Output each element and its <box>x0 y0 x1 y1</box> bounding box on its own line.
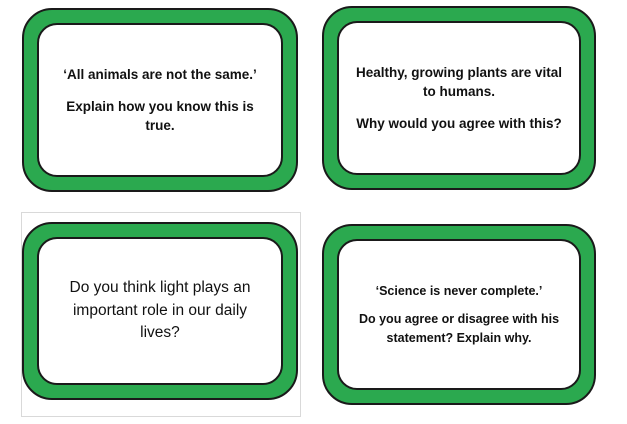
question-card-bottom-left-body: Do you think light plays an important ro… <box>37 237 283 385</box>
question-card-top-right-line-1: Healthy, growing plants are vital to hum… <box>355 63 563 101</box>
question-card-bottom-right-line-1: ‘Science is never complete.’ <box>349 282 569 300</box>
question-card-top-right[interactable]: Healthy, growing plants are vital to hum… <box>322 6 596 190</box>
question-card-bottom-right-line-2: Do you agree or disagree with his statem… <box>349 310 569 346</box>
question-card-top-left-line-2: Explain how you know this is true. <box>53 97 267 135</box>
question-card-grid: ‘All animals are not the same.’ Explain … <box>0 0 627 424</box>
question-card-bottom-right[interactable]: ‘Science is never complete.’ Do you agre… <box>322 224 596 405</box>
question-card-top-left-line-1: ‘All animals are not the same.’ <box>53 65 267 84</box>
question-card-top-right-body: Healthy, growing plants are vital to hum… <box>337 21 581 175</box>
question-card-bottom-left[interactable]: Do you think light plays an important ro… <box>22 222 298 400</box>
question-card-bottom-right-body: ‘Science is never complete.’ Do you agre… <box>337 239 581 390</box>
question-card-bottom-left-line-1: Do you think light plays an important ro… <box>53 277 267 346</box>
question-card-top-right-line-2: Why would you agree with this? <box>355 114 563 133</box>
question-card-top-left-body: ‘All animals are not the same.’ Explain … <box>37 23 283 177</box>
question-card-top-left[interactable]: ‘All animals are not the same.’ Explain … <box>22 8 298 192</box>
